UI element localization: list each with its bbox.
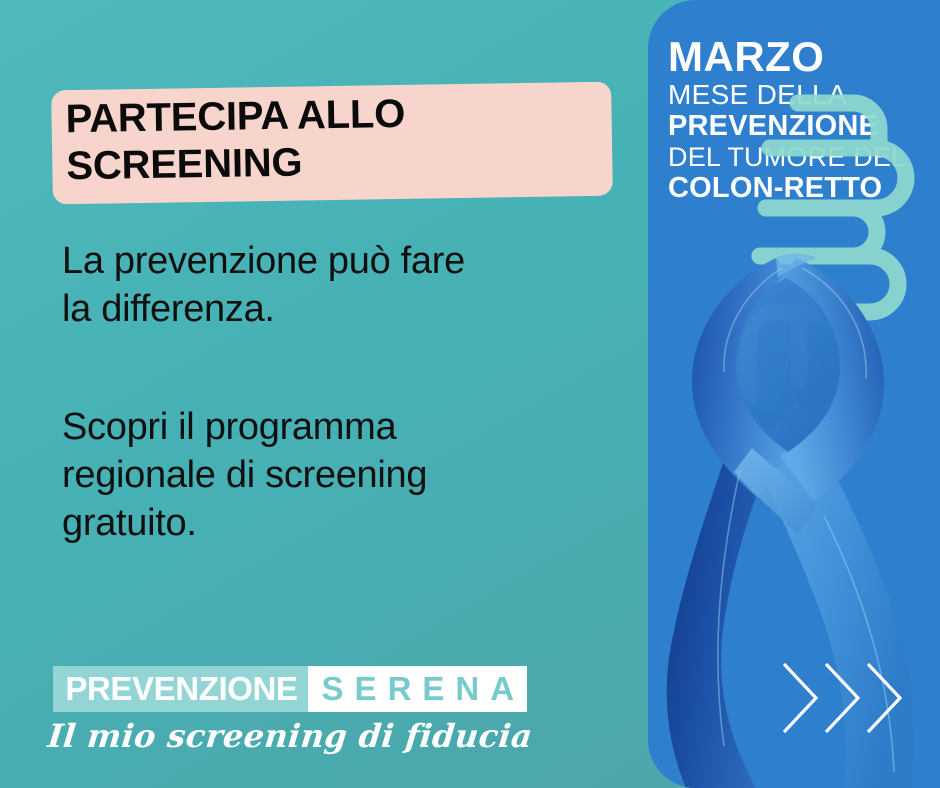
blue-side-panel: MARZO MESE DELLA PREVENZIONE DEL TUMORE … xyxy=(648,0,940,788)
chevron-right-icon xyxy=(776,656,926,740)
left-content-column: PARTECIPA ALLO SCREENING La prevenzione … xyxy=(0,0,660,788)
body-paragraph-1: La prevenzione può fare la differenza. xyxy=(62,238,607,334)
body-paragraph-2: Scopri il programma regionale di screeni… xyxy=(62,404,582,548)
logo-wordmark-row: PREVENZIONE SERENA xyxy=(53,666,527,712)
logo-word-prevenzione: PREVENZIONE xyxy=(53,666,307,712)
logo-word-serena: SERENA xyxy=(308,666,528,712)
campaign-poster: PARTECIPA ALLO SCREENING La prevenzione … xyxy=(0,0,940,788)
brand-logo: PREVENZIONE SERENA Il mio screening di f… xyxy=(48,666,532,755)
page-title: PARTECIPA ALLO SCREENING xyxy=(65,88,606,190)
logo-tagline: Il mio screening di fiducia xyxy=(46,717,534,755)
